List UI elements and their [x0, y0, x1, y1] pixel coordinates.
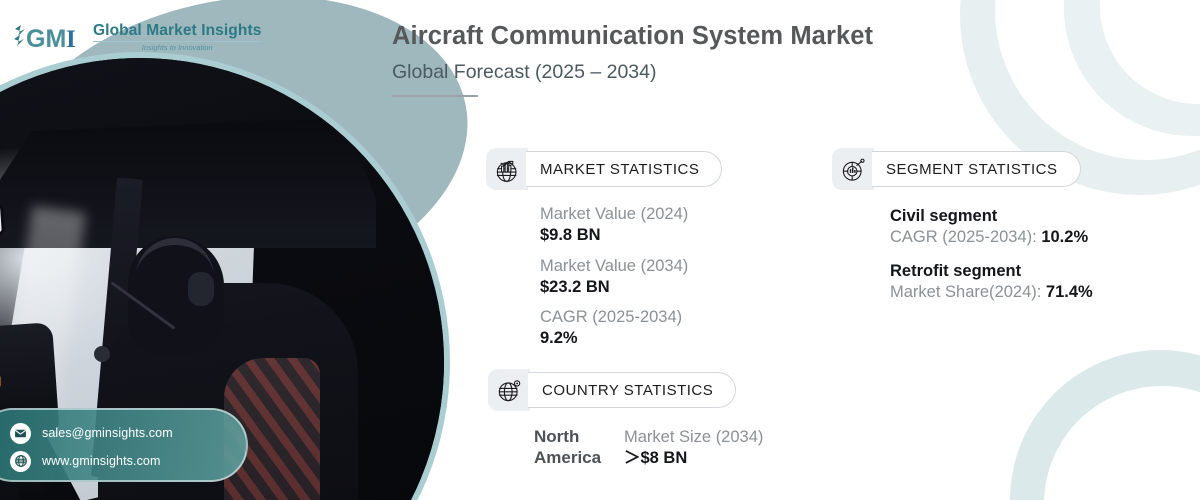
headset-earcup — [188, 272, 214, 306]
segment-statistics-block: SEGMENT STATISTICS Civil segment CAGR (2… — [832, 148, 1093, 316]
pie-chart-target-icon — [832, 148, 874, 190]
market-value-2024-label: Market Value (2024) — [540, 204, 722, 225]
contact-website-text: www.gminsights.com — [42, 454, 161, 468]
contact-website-row[interactable]: www.gminsights.com — [10, 447, 246, 475]
market-value-2024-value: $9.8 BN — [540, 225, 722, 246]
market-cagr-value: 9.2% — [540, 328, 722, 349]
country-statistics-heading: COUNTRY STATISTICS — [542, 382, 713, 399]
country-metric: Market Size (2034) ＞$8 BN — [624, 427, 763, 470]
contact-pill: sales@gminsights.com www.gminsights.com — [0, 408, 248, 482]
brand-tagline: Insights to Innovation — [93, 41, 261, 52]
retrofit-segment-metric: Market Share(2024): 71.4% — [890, 282, 1093, 303]
market-cagr-label: CAGR (2025-2034) — [540, 307, 722, 328]
market-statistics-header: MARKET STATISTICS — [486, 148, 722, 190]
retrofit-segment-title: Retrofit segment — [890, 261, 1093, 282]
svg-text:I: I — [66, 26, 76, 52]
retrofit-segment-metric-value: 71.4% — [1046, 283, 1093, 301]
globe-pin-icon — [488, 369, 530, 411]
country-statistics-row: North America Market Size (2034) ＞$8 BN — [488, 427, 763, 470]
country-region-name: North America — [534, 427, 608, 468]
country-market-size-label: Market Size (2034) — [624, 427, 763, 448]
market-value-2034-value: $23.2 BN — [540, 277, 722, 298]
segment-statistics-pill: SEGMENT STATISTICS — [872, 151, 1081, 187]
segment-group-retrofit: Retrofit segment Market Share(2024): 71.… — [890, 261, 1093, 304]
svg-text:GM: GM — [26, 25, 66, 52]
header: Aircraft Communication System Market Glo… — [392, 22, 1092, 97]
envelope-icon — [10, 423, 31, 444]
contact-email-row[interactable]: sales@gminsights.com — [10, 419, 246, 447]
infographic-canvas: sales@gminsights.com www.gminsights.com — [0, 0, 1200, 500]
segment-group-civil: Civil segment CAGR (2025-2034): 10.2% — [890, 206, 1093, 249]
decorative-arc-bottom-right-2 — [1044, 386, 1200, 500]
market-value-2034-label: Market Value (2034) — [540, 256, 722, 277]
country-statistics-pill: COUNTRY STATISTICS — [528, 372, 736, 408]
country-market-size-value: ＞$8 BN — [624, 448, 763, 469]
market-statistics-block: MARKET STATISTICS Market Value (2024) $9… — [486, 148, 722, 359]
market-statistics-list: Market Value (2024) $9.8 BN Market Value… — [486, 204, 722, 350]
segment-statistics-header: SEGMENT STATISTICS — [832, 148, 1093, 190]
title-underline — [392, 95, 478, 97]
segment-statistics-list: Civil segment CAGR (2025-2034): 10.2% Re… — [832, 206, 1093, 304]
headset-mic-tip — [94, 346, 110, 362]
globe-icon — [10, 451, 31, 472]
page-subtitle: Global Forecast (2025 – 2034) — [392, 61, 1092, 84]
civil-segment-title: Civil segment — [890, 206, 1093, 227]
dashboard-indicator-light — [0, 376, 1, 387]
civil-segment-metric-value: 10.2% — [1041, 228, 1088, 246]
page-title: Aircraft Communication System Market — [392, 22, 1092, 51]
country-statistics-header: COUNTRY STATISTICS — [488, 369, 763, 411]
market-statistics-heading: MARKET STATISTICS — [540, 161, 699, 178]
decorative-arc-bottom-right-1 — [1010, 350, 1200, 500]
civil-segment-metric: CAGR (2025-2034): 10.2% — [890, 227, 1093, 248]
brand-logo[interactable]: GM I Global Market Insights Insights to … — [12, 22, 261, 52]
globe-bar-chart-icon — [486, 148, 528, 190]
segment-statistics-heading: SEGMENT STATISTICS — [886, 161, 1058, 178]
contact-email-text: sales@gminsights.com — [42, 426, 173, 440]
civil-segment-metric-label: CAGR (2025-2034): — [890, 228, 1041, 246]
market-statistics-pill: MARKET STATISTICS — [526, 151, 722, 187]
decorative-arc-top-right-4 — [1100, 0, 1200, 104]
retrofit-segment-metric-label: Market Share(2024): — [890, 283, 1046, 301]
gmi-logo-mark-icon: GM I — [12, 22, 86, 52]
country-statistics-block: COUNTRY STATISTICS North America Market … — [488, 369, 763, 470]
brand-name: Global Market Insights — [93, 23, 261, 39]
